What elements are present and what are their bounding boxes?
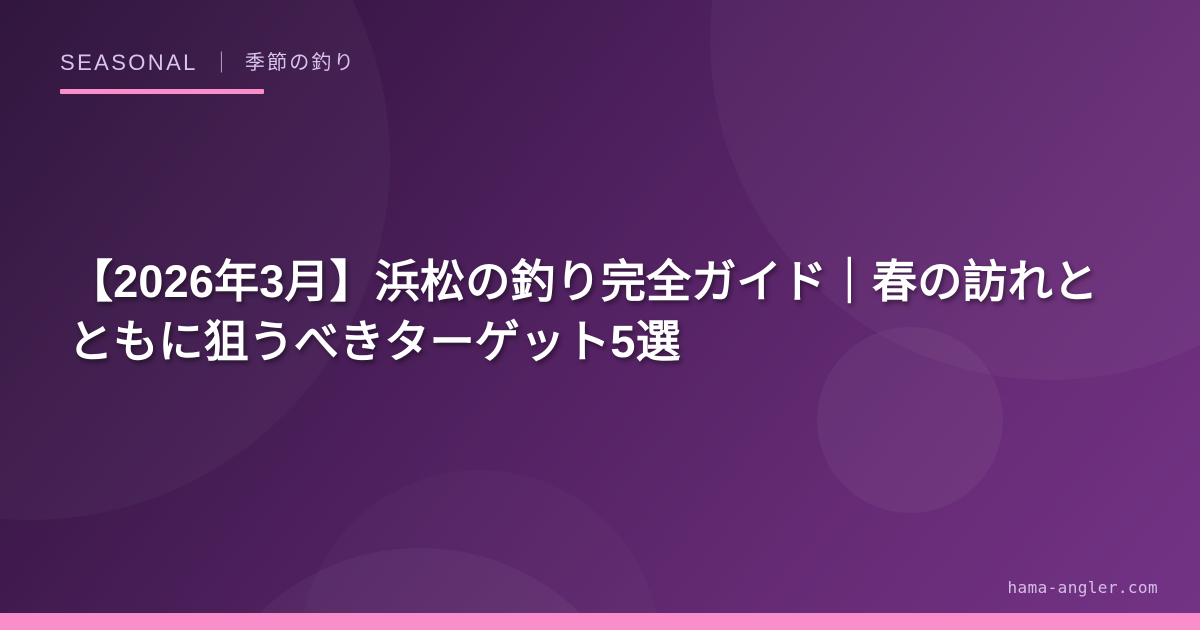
breadcrumb: SEASONAL ｜ 季節の釣り [60,52,356,74]
site-domain-label: hama-angler.com [1008,578,1159,597]
eyebrow-separator: ｜ [211,53,232,74]
decorative-circle-bottom-right [300,470,660,630]
bottom-accent-bar [0,613,1200,630]
eyebrow-block: SEASONAL ｜ 季節の釣り [60,52,356,94]
eyebrow-category: 季節の釣り [245,53,356,73]
page-title: 【2026年3月】浜松の釣り完全ガイド｜春の訪れとともに狙うべきターゲット5選 [68,252,1133,372]
eyebrow-underline-rule [60,89,264,94]
eyebrow-kicker: SEASONAL [60,52,198,74]
ogp-card: SEASONAL ｜ 季節の釣り 【2026年3月】浜松の釣り完全ガイド｜春の訪… [0,0,1200,630]
